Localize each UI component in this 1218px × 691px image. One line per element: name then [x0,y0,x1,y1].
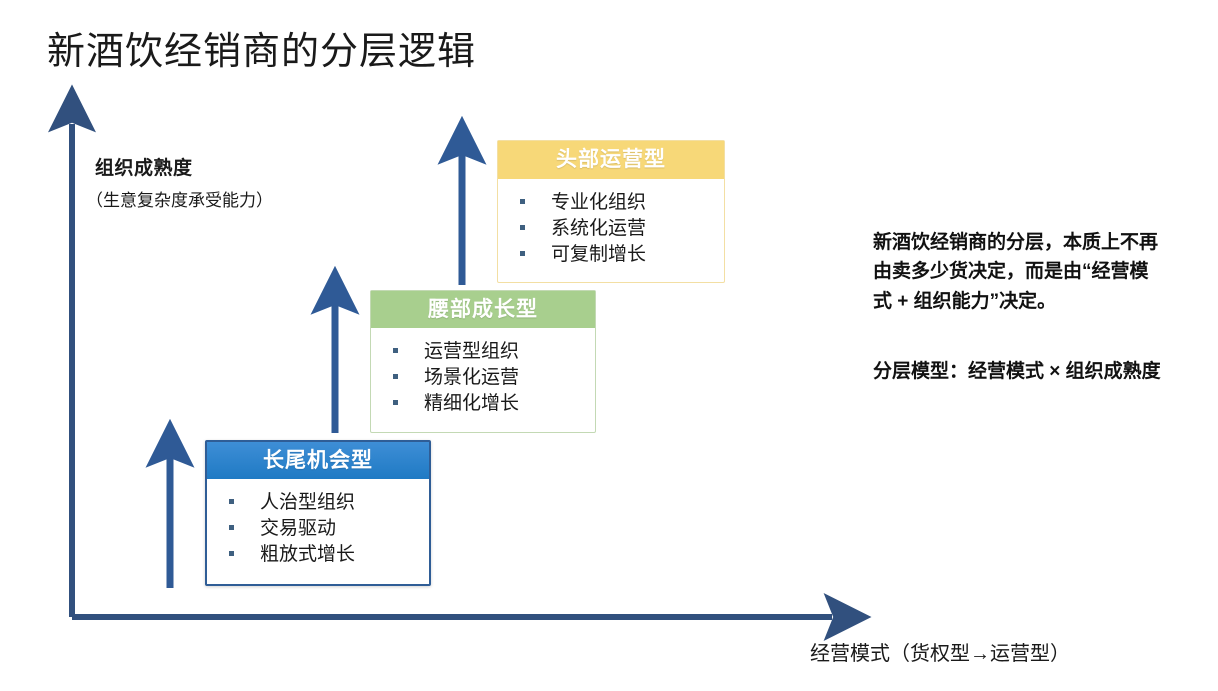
tier-item-label: 场景化运营 [424,365,519,391]
bullet-icon [229,499,234,504]
tier-card-body: 运营型组织 场景化运营 精细化增长 [371,328,595,428]
tier-list-item: 可复制增长 [520,242,714,268]
tier-list-item: 专业化组织 [520,190,714,216]
tier-item-label: 可复制增长 [551,242,646,268]
tier-list-item: 场景化运营 [393,365,585,391]
tier-item-label: 运营型组织 [424,339,519,365]
bullet-icon [520,225,525,230]
tier-list-item: 粗放式增长 [229,542,419,568]
tier-list-item: 精细化增长 [393,391,585,417]
bullet-icon [520,251,525,256]
tier-card-long-tail[interactable]: 长尾机会型 人治型组织 交易驱动 粗放式增长 [205,440,431,586]
slide-canvas: 新酒饮经销商的分层逻辑 组织成熟 [0,0,1218,691]
page-title: 新酒饮经销商的分层逻辑 [47,30,476,76]
tier-card-head-operation[interactable]: 头部运营型 专业化组织 系统化运营 可复制增长 [497,140,725,283]
tier-item-label: 系统化运营 [551,216,646,242]
tier-item-label: 人治型组织 [260,490,355,516]
y-axis-sublabel: （生意复杂度承受能力） [86,186,273,211]
tier-card-mid-growth[interactable]: 腰部成长型 运营型组织 场景化运营 精细化增长 [370,290,596,433]
x-axis-label: 经营模式（货权型→运营型） [810,637,1070,666]
tier-card-title: 腰部成长型 [371,291,595,328]
tier-item-label: 精细化增长 [424,391,519,417]
y-axis-label: 组织成熟度 [95,153,193,180]
bullet-icon [393,400,398,405]
bullet-icon [229,525,234,530]
tier-list-item: 运营型组织 [393,339,585,365]
bullet-icon [393,374,398,379]
tier-list-item: 交易驱动 [229,516,419,542]
tier-card-title: 长尾机会型 [207,442,429,479]
bullet-icon [520,199,525,204]
tier-card-body: 专业化组织 系统化运营 可复制增长 [498,179,724,279]
tier-item-label: 专业化组织 [551,190,646,216]
bullet-icon [393,348,398,353]
note-paragraph-1: 新酒饮经销商的分层，本质上不再由卖多少货决定，而是由“经营模式 + 组织能力”决… [873,228,1161,316]
tier-card-body: 人治型组织 交易驱动 粗放式增长 [207,479,429,579]
tier-list-item: 人治型组织 [229,490,419,516]
tier-item-label: 粗放式增长 [260,542,355,568]
tier-item-label: 交易驱动 [260,516,336,542]
tier-card-title: 头部运营型 [498,141,724,179]
bullet-icon [229,551,234,556]
axes-and-arrows [0,0,1218,691]
tier-list-item: 系统化运营 [520,216,714,242]
note-paragraph-2: 分层模型：经营模式 × 组织成熟度 [873,357,1165,386]
